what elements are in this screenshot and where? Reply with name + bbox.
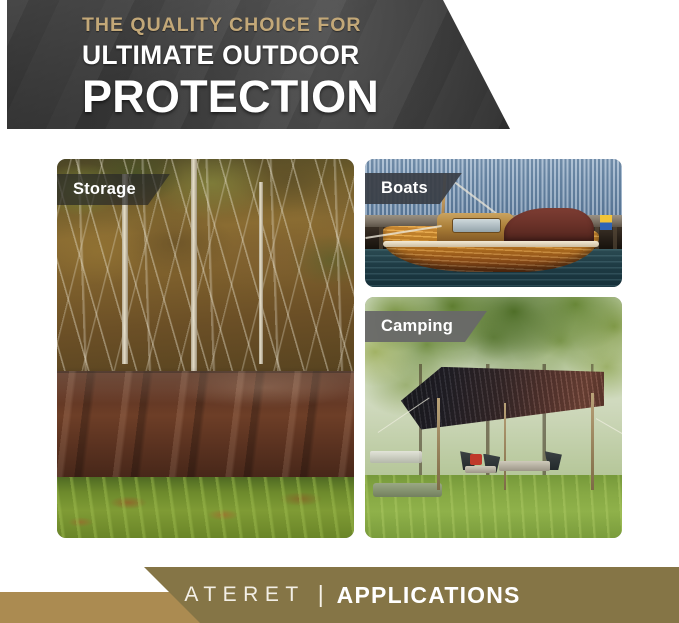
header-left-edge-strip	[0, 0, 7, 129]
boats-flag	[600, 215, 612, 230]
camping-ground-mat	[373, 483, 442, 497]
camping-distant-bench	[370, 451, 421, 463]
panel-label-camping-text: Camping	[381, 317, 453, 336]
photo-panel-boats[interactable]: Boats	[365, 159, 622, 287]
storage-birch-trunk-right	[259, 182, 263, 364]
header-kicker: THE QUALITY CHOICE FOR	[82, 12, 482, 38]
storage-grass-texture	[57, 477, 354, 538]
camping-side-table	[465, 466, 496, 473]
photo-panel-storage[interactable]: Storage	[57, 159, 354, 538]
marketing-infographic: THE QUALITY CHOICE FOR ULTIMATE OUTDOOR …	[0, 0, 679, 623]
camping-pole-left	[437, 398, 440, 490]
panel-label-boats-text: Boats	[381, 179, 428, 198]
camping-pole-right	[591, 393, 594, 489]
panel-label-storage-text: Storage	[73, 180, 136, 199]
footer-brand-name: ATERET	[184, 583, 304, 607]
header-text-block: THE QUALITY CHOICE FOR ULTIMATE OUTDOOR …	[82, 12, 482, 123]
camping-pole-center	[504, 403, 507, 490]
boats-windshield	[452, 218, 500, 233]
camping-table	[499, 461, 550, 471]
header-headline-secondary: ULTIMATE OUTDOOR	[82, 39, 482, 72]
storage-birch-trunk-mid	[191, 159, 197, 379]
storage-tarp-highlight	[57, 371, 354, 488]
photo-panel-camping[interactable]: Camping	[365, 297, 622, 538]
footer-divider: |	[318, 583, 324, 606]
camping-red-cooler	[470, 454, 482, 465]
footer-section-title: APPLICATIONS	[337, 582, 521, 609]
header-headline-primary: PROTECTION	[82, 71, 482, 123]
footer-text-block: ATERET | APPLICATIONS	[0, 567, 679, 623]
boats-gunwale	[383, 241, 599, 247]
storage-photo	[57, 159, 354, 538]
